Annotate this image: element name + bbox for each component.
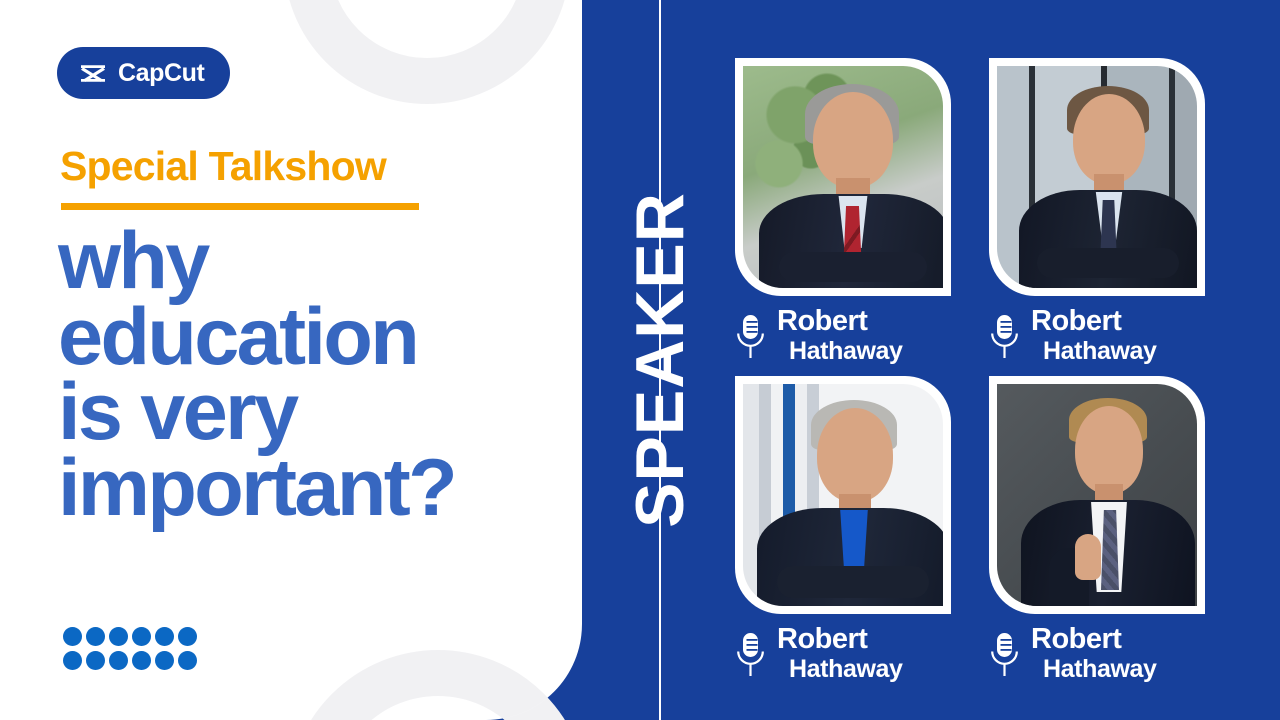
speaker-name: Robert Hathaway bbox=[1031, 625, 1157, 682]
speaker-name: Robert Hathaway bbox=[1031, 307, 1157, 364]
headline-line-4: important? bbox=[58, 451, 558, 527]
speaker-card[interactable]: Robert Hathaway bbox=[989, 376, 1205, 686]
microphone-icon bbox=[989, 631, 1020, 677]
headline-line-3: is very bbox=[58, 375, 558, 451]
speaker-photo-frame bbox=[989, 58, 1205, 296]
dot bbox=[86, 651, 105, 670]
dot bbox=[109, 651, 128, 670]
speaker-name-row: Robert Hathaway bbox=[735, 625, 951, 682]
eyebrow-label: Special Talkshow bbox=[60, 145, 386, 188]
speaker-first-name: Robert bbox=[1031, 307, 1157, 336]
dot bbox=[155, 627, 174, 646]
speaker-card-grid: Robert Hathaway bbox=[735, 58, 1205, 686]
dot-grid-decoration bbox=[63, 627, 197, 670]
microphone-icon bbox=[735, 631, 766, 677]
speaker-first-name: Robert bbox=[777, 307, 903, 336]
speaker-section-label: SPEAKER bbox=[600, 0, 720, 720]
dot bbox=[63, 627, 82, 646]
speaker-vertical-text: SPEAKER bbox=[626, 192, 694, 528]
page-title: why education is very important? bbox=[58, 224, 558, 527]
speaker-name: Robert Hathaway bbox=[777, 307, 903, 364]
dot bbox=[109, 627, 128, 646]
dot bbox=[86, 627, 105, 646]
dot bbox=[178, 651, 197, 670]
speaker-name-row: Robert Hathaway bbox=[735, 307, 951, 364]
speaker-name-row: Robert Hathaway bbox=[989, 307, 1205, 364]
speaker-photo bbox=[997, 66, 1197, 288]
speaker-photo bbox=[743, 66, 943, 288]
dot bbox=[155, 651, 174, 670]
speaker-first-name: Robert bbox=[777, 625, 903, 654]
dot bbox=[63, 651, 82, 670]
dot bbox=[132, 651, 151, 670]
capcut-logo-text: CapCut bbox=[118, 61, 204, 86]
speaker-card[interactable]: Robert Hathaway bbox=[989, 58, 1205, 368]
speaker-first-name: Robert bbox=[1031, 625, 1157, 654]
speaker-photo-frame bbox=[735, 376, 951, 614]
eyebrow-underline bbox=[61, 203, 419, 210]
speaker-photo-frame bbox=[735, 58, 951, 296]
speaker-last-name: Hathaway bbox=[777, 657, 903, 682]
headline-line-1: why bbox=[58, 224, 558, 300]
microphone-icon bbox=[735, 313, 766, 359]
decorative-ring-top-clipped bbox=[284, 0, 570, 104]
speaker-photo bbox=[997, 384, 1197, 606]
speaker-last-name: Hathaway bbox=[777, 339, 903, 364]
microphone-icon bbox=[989, 313, 1020, 359]
left-content-panel: CapCut Special Talkshow why education is… bbox=[0, 0, 582, 720]
speaker-photo bbox=[743, 384, 943, 606]
speaker-photo-frame bbox=[989, 376, 1205, 614]
speaker-last-name: Hathaway bbox=[1031, 339, 1157, 364]
speaker-card[interactable]: Robert Hathaway bbox=[735, 58, 951, 368]
headline-line-2: education bbox=[58, 300, 558, 376]
speaker-name-row: Robert Hathaway bbox=[989, 625, 1205, 682]
speaker-last-name: Hathaway bbox=[1031, 657, 1157, 682]
speaker-card[interactable]: Robert Hathaway bbox=[735, 376, 951, 686]
capcut-logo-icon bbox=[79, 63, 107, 84]
decorative-ring-bottom-clipped bbox=[288, 650, 582, 720]
speaker-name: Robert Hathaway bbox=[777, 625, 903, 682]
dot bbox=[132, 627, 151, 646]
capcut-logo-badge[interactable]: CapCut bbox=[57, 47, 230, 99]
dot bbox=[178, 627, 197, 646]
